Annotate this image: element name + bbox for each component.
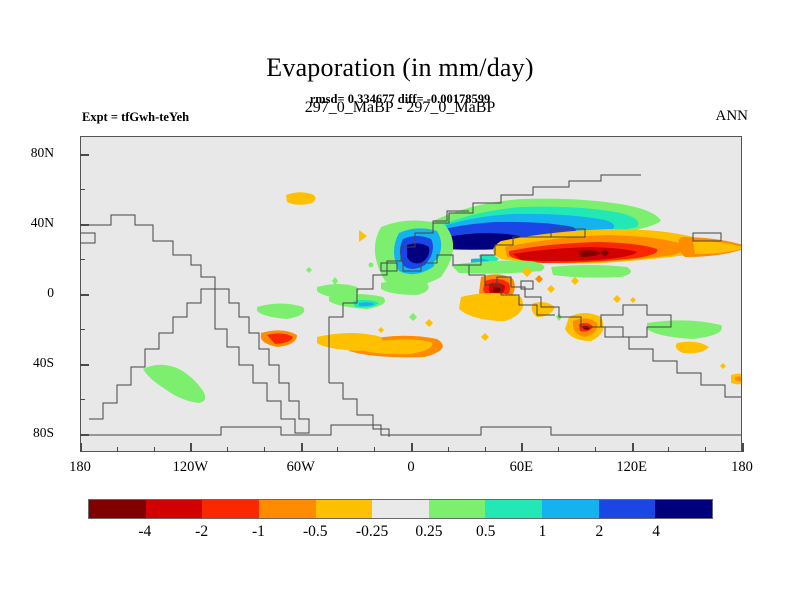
colorbar-segment-1 (146, 500, 203, 518)
page-title: Evaporation (in mm/day) (0, 53, 800, 83)
colorbar-segment-5 (372, 500, 429, 518)
colorbar-label-0.25: 0.25 (399, 523, 459, 541)
colorbar-segment-2 (202, 500, 259, 518)
x-axis-label-60E: 60E (486, 459, 556, 476)
colorbar-label-0.5: 0.5 (456, 523, 516, 541)
x-minor-tick (558, 447, 559, 452)
colorbar-segment-3 (259, 500, 316, 518)
map-contour-canvas (81, 137, 741, 451)
map-plot-area (80, 136, 742, 452)
y-axis-label-40S: 40S (0, 355, 54, 371)
y-axis-label-80N: 80N (0, 145, 54, 161)
x-axis-label-180: 180 (45, 459, 115, 476)
colorbar-label-2: 2 (569, 523, 629, 541)
y-axis-label-40N: 40N (0, 215, 54, 231)
x-minor-tick (595, 447, 596, 452)
y-axis-label-0: 0 (0, 285, 54, 301)
x-minor-tick (337, 447, 338, 452)
x-axis-label-120E: 120E (597, 459, 667, 476)
contour-fills (143, 192, 741, 403)
colorbar-label--4: -4 (115, 523, 175, 541)
colorbar-label-4: 4 (626, 523, 686, 541)
x-axis-label-120W: 120W (155, 459, 225, 476)
figure-canvas: Evaporation (in mm/day) rmsd= 0.334677 d… (0, 0, 800, 600)
x-axis-label-0: 0 (376, 459, 446, 476)
x-major-tick-180 (742, 443, 744, 452)
y-major-tick-40N (80, 224, 89, 226)
y-minor-tick (80, 259, 85, 260)
x-minor-tick (374, 447, 375, 452)
x-major-tick-120W (190, 443, 192, 452)
colorbar-label--0.5: -0.5 (285, 523, 345, 541)
y-major-tick-40S (80, 364, 89, 366)
season-label: ANN (716, 108, 749, 125)
x-major-tick-0 (411, 443, 413, 452)
colorbar-segment-10 (655, 500, 712, 518)
colorbar-label-1: 1 (513, 523, 573, 541)
y-minor-tick (80, 329, 85, 330)
colorbar-segment-7 (485, 500, 542, 518)
y-minor-tick (80, 189, 85, 190)
x-major-tick-180 (80, 443, 82, 452)
x-minor-tick (154, 447, 155, 452)
x-minor-tick (705, 447, 706, 452)
x-minor-tick (448, 447, 449, 452)
colorbar-segment-0 (89, 500, 146, 518)
x-major-tick-120E (632, 443, 634, 452)
colorbar-segment-4 (316, 500, 373, 518)
colorbar (88, 499, 713, 519)
colorbar-segment-9 (599, 500, 656, 518)
colorbar-label--1: -1 (228, 523, 288, 541)
y-major-tick-80S (80, 434, 89, 436)
y-axis-label-80S: 80S (0, 425, 54, 441)
x-major-tick-60W (301, 443, 303, 452)
colorbar-segment-6 (429, 500, 486, 518)
y-minor-tick (80, 399, 85, 400)
x-axis-label-180: 180 (707, 459, 777, 476)
x-minor-tick (227, 447, 228, 452)
x-minor-tick (485, 447, 486, 452)
y-major-tick-0 (80, 294, 89, 296)
x-major-tick-60E (521, 443, 523, 452)
x-minor-tick (117, 447, 118, 452)
colorbar-label--0.25: -0.25 (342, 523, 402, 541)
colorbar-segment-8 (542, 500, 599, 518)
x-minor-tick (668, 447, 669, 452)
x-axis-label-60W: 60W (266, 459, 336, 476)
colorbar-label--2: -2 (172, 523, 232, 541)
experiment-label: Expt = tfGwh-teYeh (82, 110, 189, 125)
y-major-tick-80N (80, 154, 89, 156)
x-minor-tick (264, 447, 265, 452)
